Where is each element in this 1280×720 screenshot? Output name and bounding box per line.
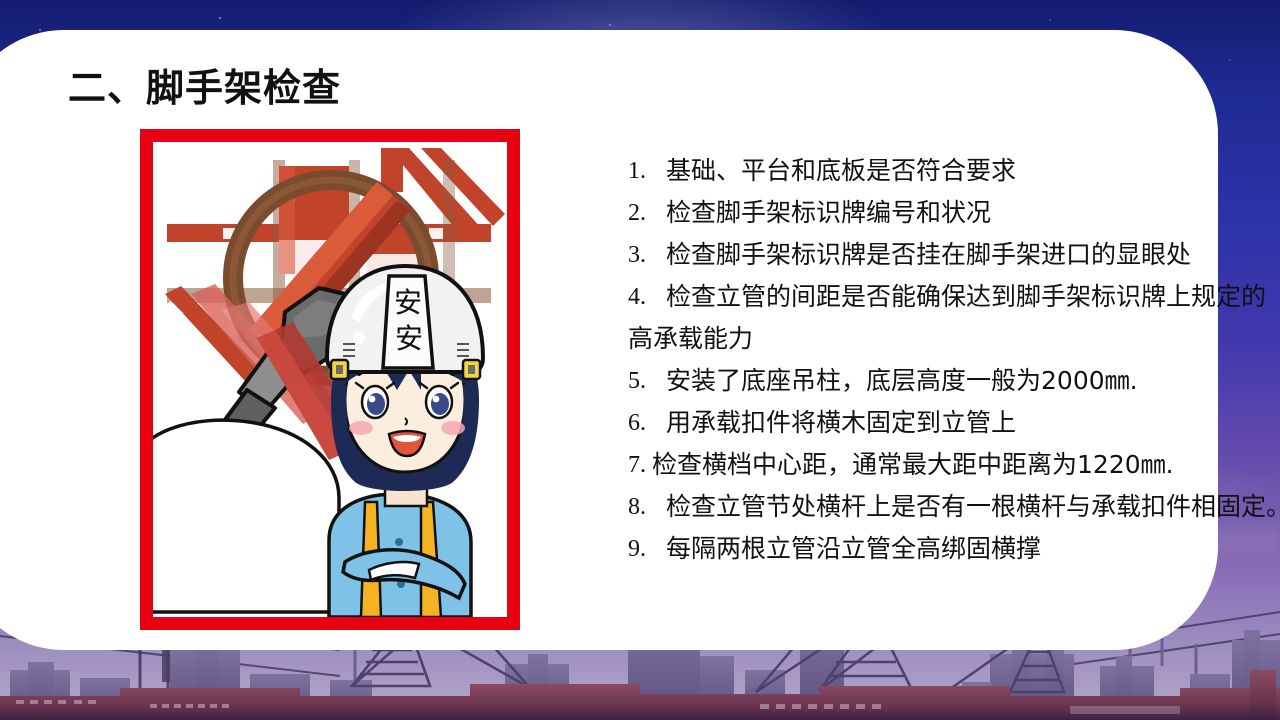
list-item-text: 检查脚手架标识牌是否挂在脚手架进口的显眼处	[666, 234, 1191, 276]
list-item-number: 6.	[628, 402, 666, 444]
list-item-text: 基础、平台和底板是否符合要求	[666, 150, 1016, 192]
list-item-number: 3.	[628, 234, 666, 276]
cartoon-worker: 安 安	[327, 266, 483, 617]
list-item-number: 4.	[628, 276, 666, 318]
list-item: 5. 安装了底座吊柱，底层高度一般为2000㎜.	[628, 360, 1280, 402]
list-item-text: 检查立管的间距是否能确保达到脚手架标识牌上规定的	[666, 276, 1266, 318]
list-item-text: 用承载扣件将横木固定到立管上	[666, 402, 1016, 444]
list-item-text: 安装了底座吊柱，底层高度一般为2000㎜.	[666, 360, 1138, 402]
speech-bubble	[153, 420, 339, 612]
list-item: 9. 每隔两根立管沿立管全高绑固横撑	[628, 528, 1280, 570]
illustration-frame: 安 安	[140, 129, 520, 630]
list-item: 1. 基础、平台和底板是否符合要求	[628, 150, 1280, 192]
list-item-text: 高承载能力	[628, 318, 753, 360]
slide-root: 二、脚手架检查	[0, 0, 1280, 720]
list-item-continuation: 高承载能力	[628, 318, 1280, 360]
list-item-number: 9.	[628, 528, 666, 570]
list-item-number: 1.	[628, 150, 666, 192]
list-item-number: 5.	[628, 360, 666, 402]
list-item-number: 2.	[628, 192, 666, 234]
list-item: 7. 检查横档中心距，通常最大距中距离为1220㎜.	[628, 444, 1280, 486]
list-item-number: 8.	[628, 486, 666, 528]
list-item: 4. 检查立管的间距是否能确保达到脚手架标识牌上规定的	[628, 276, 1280, 318]
list-item: 6. 用承载扣件将横木固定到立管上	[628, 402, 1280, 444]
list-item: 2. 检查脚手架标识牌编号和状况	[628, 192, 1280, 234]
list-item-text: 每隔两根立管沿立管全高绑固横撑	[666, 528, 1041, 570]
list-item: 8. 检查立管节处横杆上是否有一根横杆与承载扣件相固定。	[628, 486, 1280, 528]
list-item-text: 检查立管节处横杆上是否有一根横杆与承载扣件相固定。	[666, 486, 1280, 528]
helmet-label-top: 安	[394, 286, 422, 319]
page-title: 二、脚手架检查	[68, 57, 341, 112]
list-item-number: 7.	[628, 444, 652, 486]
list-item-text: 检查脚手架标识牌编号和状况	[666, 192, 991, 234]
illustration-image: 安 安	[153, 142, 507, 617]
list-item: 3. 检查脚手架标识牌是否挂在脚手架进口的显眼处	[628, 234, 1280, 276]
scaffolding-worker-illustration: 安 安	[153, 142, 507, 617]
checklist: 1. 基础、平台和底板是否符合要求 2. 检查脚手架标识牌编号和状况 3. 检查…	[628, 150, 1280, 570]
list-item-text: 检查横档中心距，通常最大距中距离为1220㎜.	[652, 444, 1174, 486]
helmet-label-bottom: 安	[395, 322, 423, 355]
